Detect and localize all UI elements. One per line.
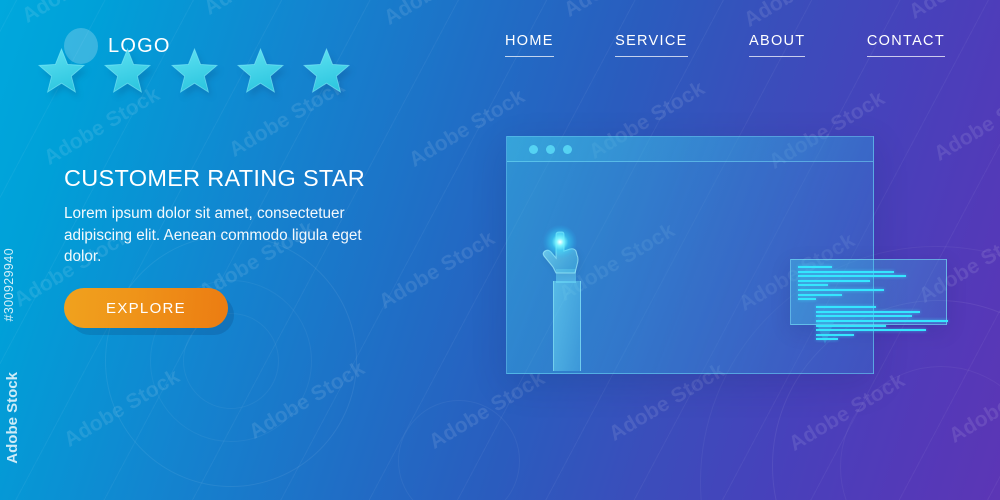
decor-ring-bottom-left [398, 400, 520, 500]
watermark-brand-label: Adobe Stock [4, 372, 22, 464]
bubble-text-line [816, 338, 838, 340]
bubble-text-line [816, 329, 926, 331]
watermark-text: Adobe Stock [40, 83, 164, 171]
nav-item-contact[interactable]: CONTACT [867, 33, 945, 57]
window-dot-icon [529, 145, 538, 154]
bubble-text-line [816, 325, 886, 327]
watermark-text: Adobe Stock [380, 0, 504, 31]
bubble-text-line [798, 294, 842, 296]
explore-button[interactable]: EXPLORE [64, 288, 228, 328]
bubble-text-line [798, 289, 884, 291]
window-dot-icon [563, 145, 572, 154]
tap-glow-icon [543, 225, 577, 259]
star-icon-1[interactable] [38, 48, 85, 93]
page-title: CUSTOMER RATING STAR [64, 165, 394, 192]
bubble-text-line [798, 280, 870, 282]
watermark-text: Adobe Stock [560, 0, 684, 23]
window-control-dots [529, 145, 572, 154]
star-icon-4[interactable] [237, 48, 284, 93]
browser-title-bar [507, 137, 873, 162]
watermark-text: Adobe Stock [425, 367, 549, 455]
bubble-text-line [798, 271, 894, 273]
nav-item-about[interactable]: ABOUT [749, 33, 805, 57]
bubble-text-line [798, 266, 832, 268]
watermark-text: Adobe Stock [740, 0, 864, 33]
watermark-text: Adobe Stock [200, 0, 324, 21]
bubble-text-line [798, 284, 828, 286]
bubble-text-line [798, 298, 816, 300]
watermark-text: Adobe Stock [785, 369, 909, 457]
star-icon-2[interactable] [104, 48, 151, 93]
watermark-text: Adobe Stock [945, 361, 1000, 449]
pointer-arm [553, 281, 581, 371]
bubble-text-line [816, 315, 912, 317]
bubble-text-line [816, 306, 876, 308]
nav-item-service[interactable]: SERVICE [615, 33, 688, 57]
decor-ring-left-1 [105, 235, 357, 487]
watermark-asset-id: #300929940 [2, 248, 20, 322]
watermark-text: Adobe Stock [930, 79, 1000, 167]
rating-stars [38, 48, 350, 93]
watermark-text: Adobe Stock [245, 357, 369, 445]
landing-page-banner: Adobe StockAdobe StockAdobe StockAdobe S… [0, 0, 1000, 500]
watermark-text: Adobe Stock [905, 0, 1000, 25]
bubble-text-line [816, 311, 920, 313]
main-navigation: HOME SERVICE ABOUT CONTACT [505, 33, 945, 57]
hero-text-block: CUSTOMER RATING STAR Lorem ipsum dolor s… [64, 165, 394, 268]
bubble-text-line [816, 334, 854, 336]
bubble-text-line [816, 320, 948, 322]
window-dot-icon [546, 145, 555, 154]
watermark-text: Adobe Stock [18, 0, 142, 29]
star-icon-3[interactable] [171, 48, 218, 93]
watermark-text: Adobe Stock [60, 365, 184, 453]
star-icon-5[interactable] [303, 48, 350, 93]
bubble-text-line [798, 275, 906, 277]
nav-item-home[interactable]: HOME [505, 33, 554, 57]
speech-bubble-text-lines [798, 266, 943, 343]
hero-description: Lorem ipsum dolor sit amet, consectetuer… [64, 203, 394, 268]
decor-ring-right-3 [840, 366, 1000, 500]
